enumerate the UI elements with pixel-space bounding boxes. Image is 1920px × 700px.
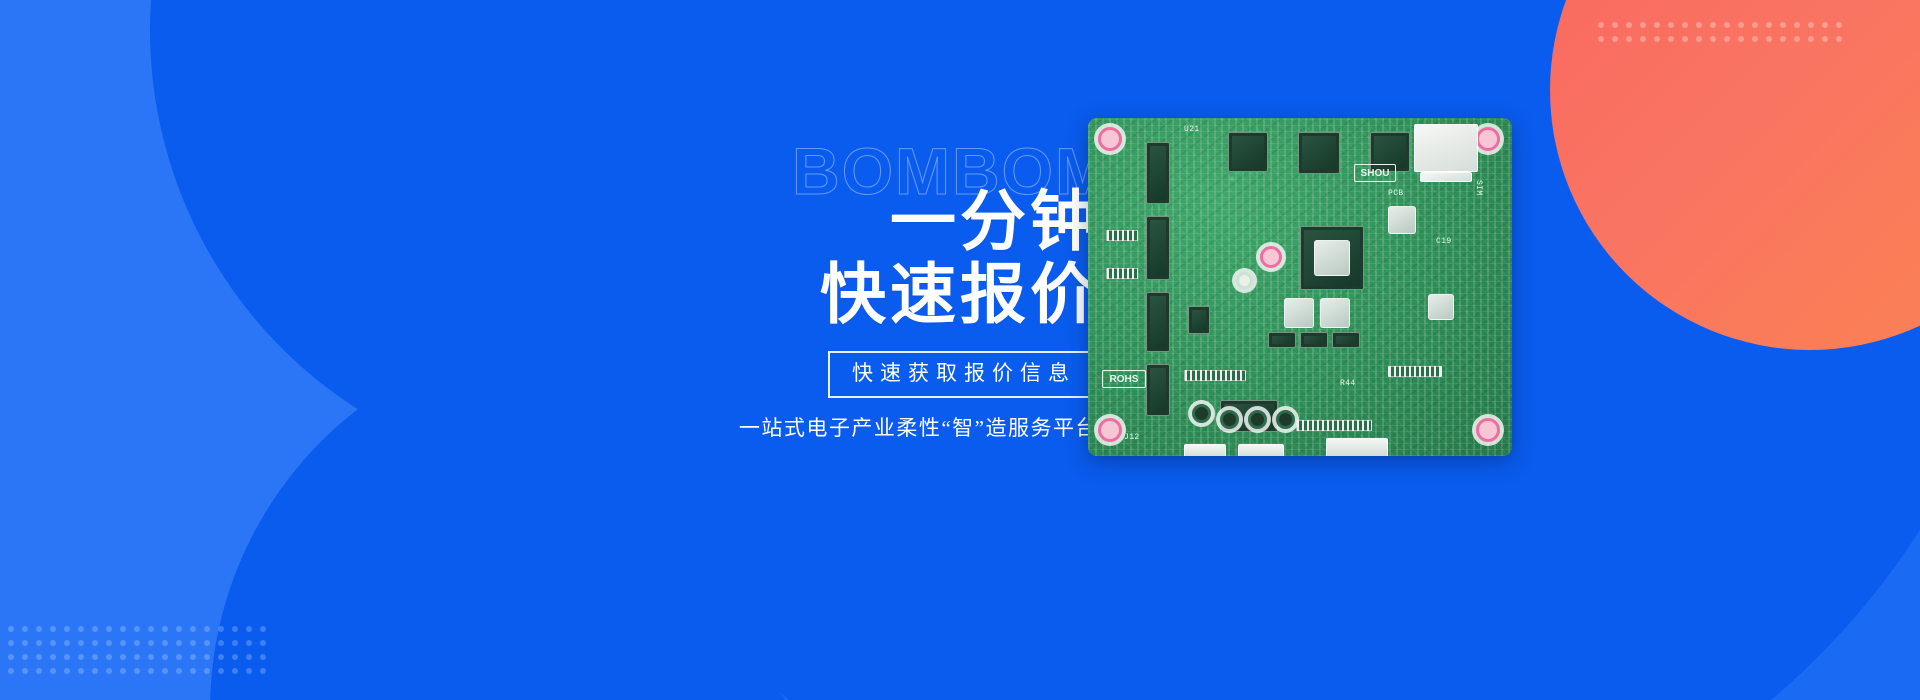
dot-top-right-dot [1808, 22, 1814, 28]
dot-bottom-left-dot [148, 640, 154, 646]
ic-processor-1 [1228, 132, 1268, 172]
dot-bottom-left-row [8, 654, 274, 668]
dot-top-right-dot [1752, 22, 1758, 28]
dot-bottom-left-dot [232, 668, 238, 674]
via-pad-center [1236, 272, 1253, 289]
dot-top-right-dot [1738, 22, 1744, 28]
dot-bottom-left-dot [8, 668, 14, 674]
pin-header-bottom-2 [1296, 420, 1372, 431]
dot-top-right-dot [1766, 22, 1772, 28]
mounting-ring-bottom-right [1476, 418, 1500, 442]
dot-bottom-left-dot [92, 626, 98, 632]
dot-top-right-dot [1682, 36, 1688, 42]
dot-bottom-left-dot [92, 640, 98, 646]
pin-header-bottom-1 [1184, 370, 1246, 381]
dot-top-right-dot [1710, 22, 1716, 28]
io-tab-2 [1238, 444, 1284, 456]
dot-bottom-left-dot [78, 626, 84, 632]
dot-bottom-left-dot [134, 640, 140, 646]
dot-bottom-left-dot [64, 654, 70, 660]
dot-top-right-dot [1724, 36, 1730, 42]
dot-bottom-left-dot [148, 654, 154, 660]
dot-bottom-left-dot [204, 640, 210, 646]
dot-bottom-left-dot [120, 626, 126, 632]
dot-bottom-left-dot [78, 668, 84, 674]
dot-bottom-left-dot [8, 626, 14, 632]
dot-bottom-left-dot [176, 626, 182, 632]
dot-bottom-left-dot [134, 668, 140, 674]
dot-top-right-dot [1612, 22, 1618, 28]
silkscreen-j12-label: J12 [1124, 434, 1140, 442]
dot-bottom-left-dot [22, 640, 28, 646]
ic-chip-1 [1146, 142, 1170, 204]
dot-top-right-dot [1822, 36, 1828, 42]
dot-top-right-dot [1640, 36, 1646, 42]
dot-bottom-left-dot [232, 626, 238, 632]
dot-top-right-dot [1682, 22, 1688, 28]
dot-bottom-left-dot [162, 654, 168, 660]
dot-top-right-dot [1752, 36, 1758, 42]
silkscreen-u21-label: U21 [1184, 126, 1200, 134]
dot-bottom-left-dot [120, 668, 126, 674]
dot-bottom-left-dot [218, 640, 224, 646]
mounting-ring-bottom-left [1098, 418, 1122, 442]
dot-top-right-dot [1696, 36, 1702, 42]
dot-top-right-dot [1626, 22, 1632, 28]
dot-bottom-left-dot [162, 668, 168, 674]
passive-block-2 [1300, 332, 1328, 348]
ic-chip-4 [1146, 364, 1170, 416]
dot-grid-top-right [1598, 22, 1850, 50]
dot-bottom-left-dot [260, 640, 266, 646]
silkscreen-rohs-label: ROHS [1102, 370, 1146, 388]
dot-bottom-left-dot [106, 640, 112, 646]
dot-bottom-left-dot [246, 640, 252, 646]
dot-top-right-dot [1668, 22, 1674, 28]
dot-bottom-left-dot [204, 626, 210, 632]
dot-bottom-left-dot [190, 626, 196, 632]
dot-top-right-dot [1766, 36, 1772, 42]
inductor-2 [1320, 298, 1350, 328]
dot-top-right-row [1598, 36, 1850, 50]
ic-processor-2 [1298, 132, 1340, 174]
passive-block-3 [1332, 332, 1360, 348]
dot-bottom-left-row [8, 668, 274, 682]
dot-bottom-left-dot [92, 668, 98, 674]
promo-banner: BOMBOM 一分钟 快速报价 快速获取报价信息 一站式电子产业柔性“智”造服务… [0, 0, 1920, 700]
dot-top-right-dot [1822, 22, 1828, 28]
dot-bottom-left-dot [176, 640, 182, 646]
dot-bottom-left-dot [162, 640, 168, 646]
dot-top-right-dot [1654, 22, 1660, 28]
silkscreen-shou-label: SHOU [1354, 164, 1396, 182]
silkscreen-sim-label: SIM [1474, 180, 1482, 196]
headline-line-1: 一分钟 [640, 188, 1100, 255]
dot-top-right-dot [1794, 22, 1800, 28]
dot-bottom-left-dot [36, 626, 42, 632]
dot-bottom-left-dot [218, 668, 224, 674]
dot-top-right-dot [1654, 36, 1660, 42]
dot-bottom-left-dot [246, 668, 252, 674]
dot-top-right-dot [1780, 22, 1786, 28]
dot-bottom-left-dot [50, 626, 56, 632]
dot-bottom-left-dot [50, 640, 56, 646]
dot-bottom-left-dot [64, 626, 70, 632]
dot-top-right-dot [1696, 22, 1702, 28]
dot-bottom-left-dot [106, 668, 112, 674]
dot-bottom-left-dot [78, 654, 84, 660]
dot-top-right-dot [1626, 36, 1632, 42]
dot-bottom-left-dot [162, 626, 168, 632]
dot-bottom-left-dot [218, 654, 224, 660]
soc-heat-spreader [1314, 240, 1350, 276]
silkscreen-r44-label: R44 [1340, 380, 1356, 388]
dot-bottom-left-dot [78, 640, 84, 646]
dot-top-right-dot [1710, 36, 1716, 42]
dot-top-right-dot [1724, 22, 1730, 28]
page-title: 一分钟 快速报价 [640, 188, 1100, 329]
dot-bottom-left-dot [190, 654, 196, 660]
silkscreen-pcb-label: PCB [1388, 190, 1404, 198]
capacitor-2 [1220, 410, 1239, 429]
dot-top-right-dot [1794, 36, 1800, 42]
io-tab-1 [1184, 444, 1226, 456]
dot-bottom-left-dot [36, 654, 42, 660]
dot-bottom-left-dot [190, 640, 196, 646]
dot-bottom-left-row [8, 626, 274, 640]
mounting-ring-top-right [1476, 127, 1500, 151]
dot-top-right-dot [1612, 36, 1618, 42]
dot-bottom-left-dot [190, 668, 196, 674]
dot-bottom-left-dot [106, 626, 112, 632]
dot-bottom-left-dot [106, 654, 112, 660]
dot-top-right-dot [1640, 22, 1646, 28]
dot-bottom-left-dot [36, 668, 42, 674]
mounting-ring-center [1260, 246, 1282, 268]
pin-header-left-1 [1106, 230, 1138, 241]
io-tab-3 [1326, 438, 1388, 456]
passive-block-4 [1188, 306, 1210, 334]
pcb-body: SHOU ROHS SIM PCB U21 C19 R44 J12 [1088, 118, 1512, 456]
inductor-1 [1284, 298, 1314, 328]
dot-top-right-dot [1668, 36, 1674, 42]
dot-bottom-left-dot [246, 626, 252, 632]
dot-top-right-dot [1598, 36, 1604, 42]
dot-bottom-left-dot [134, 654, 140, 660]
dot-bottom-left-dot [22, 668, 28, 674]
headline-line-2: 快速报价 [640, 261, 1100, 328]
dot-bottom-left-dot [8, 640, 14, 646]
dot-bottom-left-dot [22, 626, 28, 632]
dot-bottom-left-dot [232, 654, 238, 660]
dot-bottom-left-dot [246, 654, 252, 660]
dot-top-right-dot [1738, 36, 1744, 42]
dot-bottom-left-dot [204, 668, 210, 674]
dot-bottom-left-dot [134, 626, 140, 632]
mounting-ring-top-left [1098, 127, 1122, 151]
dot-bottom-left-dot [218, 626, 224, 632]
dot-bottom-left-dot [8, 654, 14, 660]
dot-bottom-left-dot [204, 654, 210, 660]
tagline: 一站式电子产业柔性“智”造服务平台 [640, 412, 1098, 442]
dot-bottom-left-dot [50, 654, 56, 660]
headline-block: BOMBOM 一分钟 快速报价 快速获取报价信息 一站式电子产业柔性“智”造服务… [640, 150, 1100, 442]
dot-top-right-dot [1836, 22, 1842, 28]
dot-top-right-dot [1780, 36, 1786, 42]
dot-bottom-left-dot [64, 668, 70, 674]
dot-top-right-dot [1808, 36, 1814, 42]
dot-bottom-left-dot [148, 668, 154, 674]
dot-bottom-left-dot [176, 654, 182, 660]
inductor-3 [1388, 206, 1416, 234]
pin-header-left-2 [1106, 268, 1138, 279]
silkscreen-c19-label: C19 [1436, 238, 1452, 246]
dot-top-right-row [1598, 22, 1850, 36]
sim-connector-latch [1420, 172, 1472, 182]
pin-header-right-1 [1388, 366, 1442, 377]
dot-bottom-left-dot [176, 668, 182, 674]
ic-chip-2 [1146, 216, 1170, 280]
dot-grid-bottom-left [8, 626, 274, 682]
passive-block-1 [1268, 332, 1296, 348]
dot-bottom-left-dot [64, 640, 70, 646]
get-quote-button[interactable]: 快速获取报价信息 [828, 351, 1100, 398]
dot-bottom-left-dot [260, 654, 266, 660]
circuit-board-image: SHOU ROHS SIM PCB U21 C19 R44 J12 [1088, 118, 1512, 456]
inductor-4 [1428, 294, 1454, 320]
dot-bottom-left-dot [50, 668, 56, 674]
sim-card-connector [1414, 124, 1478, 172]
dot-bottom-left-dot [120, 654, 126, 660]
dot-top-right-dot [1598, 22, 1604, 28]
ic-chip-3 [1146, 292, 1170, 352]
dot-bottom-left-dot [120, 640, 126, 646]
dot-bottom-left-dot [260, 626, 266, 632]
dot-bottom-left-dot [22, 654, 28, 660]
dot-top-right-dot [1836, 36, 1842, 42]
capacitor-3 [1248, 410, 1267, 429]
capacitor-4 [1276, 410, 1295, 429]
dot-bottom-left-dot [36, 640, 42, 646]
dot-bottom-left-dot [92, 654, 98, 660]
dot-bottom-left-dot [232, 640, 238, 646]
dot-bottom-left-row [8, 640, 274, 654]
capacitor-1 [1192, 404, 1211, 423]
dot-bottom-left-dot [148, 626, 154, 632]
dot-bottom-left-dot [260, 668, 266, 674]
